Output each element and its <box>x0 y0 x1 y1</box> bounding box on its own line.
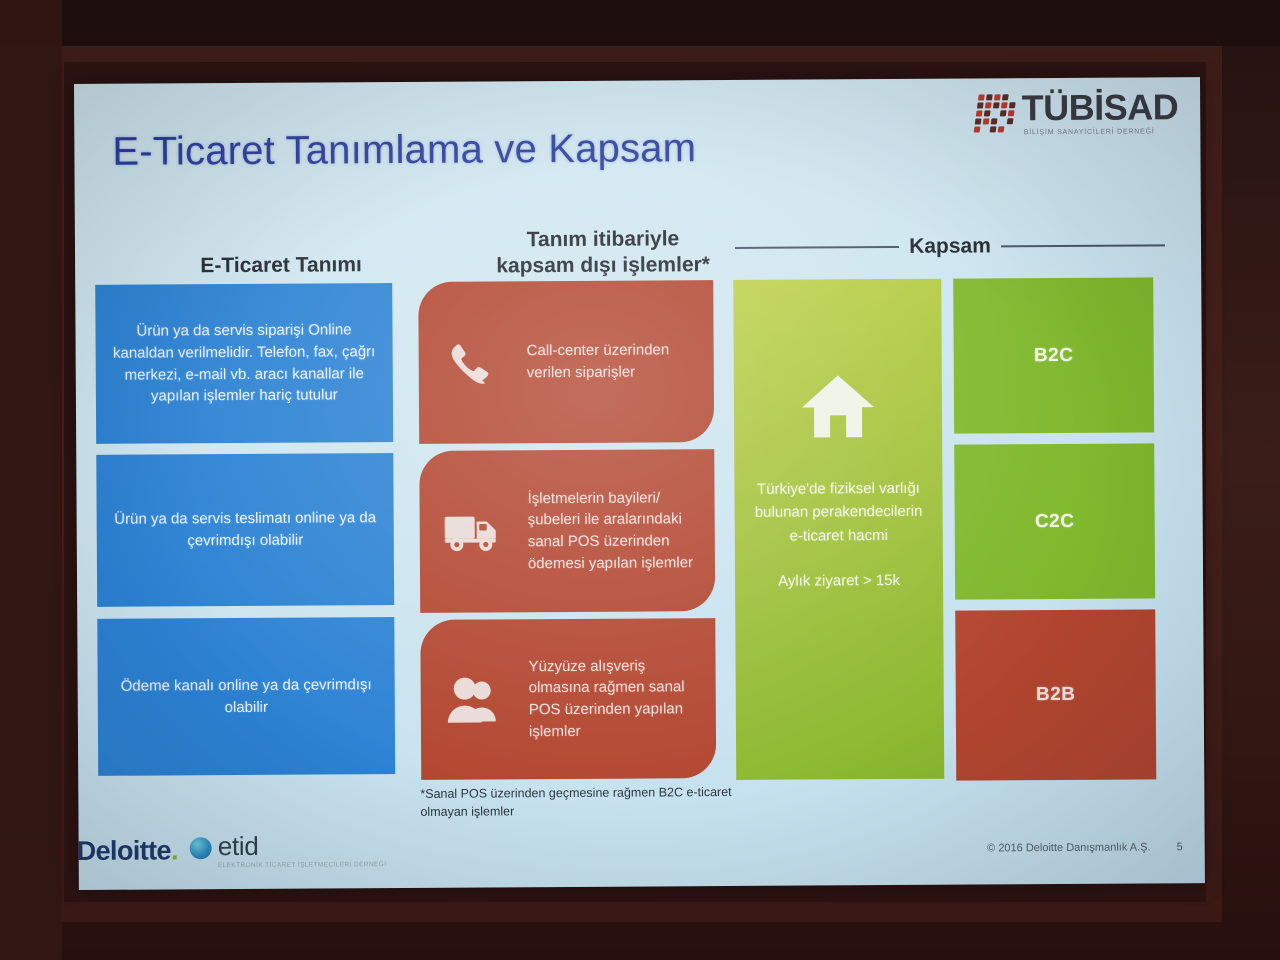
footnote: *Sanal POS üzerinden geçmesine rağmen B2… <box>420 783 760 821</box>
wall-top-band <box>0 0 1280 46</box>
scope-panel: Türkiye'de fiziksel varlığı bulunan pera… <box>733 279 944 780</box>
scope-square-c2c: C2C <box>954 443 1155 599</box>
scope-rule-left <box>735 246 899 249</box>
phone-icon <box>419 335 527 390</box>
column-header-exclusions: Tanım itibariyle kapsam dışı işlemler* <box>453 226 753 280</box>
copyright-text: © 2016 Deloitte Danışmanlık A.Ş. <box>987 841 1150 854</box>
column-header-scope: Kapsam <box>735 233 1165 260</box>
wall-left-band <box>0 0 62 960</box>
scope-rule-right <box>1001 244 1165 247</box>
exclusion-box-text: Yüzyüze alışveriş olmasına rağmen sanal … <box>529 655 717 743</box>
page-title: E-Ticaret Tanımlama ve Kapsam <box>112 126 696 175</box>
column-header-scope-label: Kapsam <box>909 234 991 258</box>
projection-room-background: TÜBİSAD BİLİŞİM SANAYİCİLERİ DERNEĞİ E-T… <box>0 0 1280 960</box>
tubisad-name: TÜBİSAD <box>1022 89 1179 126</box>
page-number: 5 <box>1177 841 1183 853</box>
presentation-slide: TÜBİSAD BİLİŞİM SANAYİCİLERİ DERNEĞİ E-T… <box>74 77 1205 890</box>
exclusion-box: İşletmelerin bayileri/şubeleri ile arala… <box>419 449 715 613</box>
tubisad-wordmark: TÜBİSAD BİLİŞİM SANAYİCİLERİ DERNEĞİ <box>1022 89 1179 136</box>
etid-logo: etid ELEKTRONİK TİCARET İŞLETMECİLERİ DE… <box>190 832 387 870</box>
deloitte-dot: . <box>171 836 178 866</box>
column-header-exclusions-line2: kapsam dışı işlemler* <box>453 252 753 280</box>
tubisad-logo: TÜBİSAD BİLİŞİM SANAYİCİLERİ DERNEĞİ <box>976 89 1179 136</box>
scope-square-b2c: B2C <box>953 277 1154 433</box>
etid-name: etid <box>218 832 387 859</box>
etid-wordmark: etid ELEKTRONİK TİCARET İŞLETMECİLERİ DE… <box>218 832 387 870</box>
definition-box: Ödeme kanalı online ya da çevrimdışı ola… <box>97 617 395 776</box>
tubisad-grid-icon <box>973 94 1016 132</box>
definition-box: Ürün ya da servis teslimatı online ya da… <box>96 453 394 607</box>
definition-box: Ürün ya da servis siparişi Online kanald… <box>95 283 393 444</box>
deloitte-wordmark: Deloitte <box>77 836 171 867</box>
etid-subtitle: ELEKTRONİK TİCARET İŞLETMECİLERİ DERNEĞİ <box>218 862 387 870</box>
exclusion-box-text: İşletmelerin bayileri/şubeleri ile arala… <box>527 487 715 575</box>
exclusion-box: Call-center üzerinden verilen siparişler <box>418 280 714 444</box>
exclusion-box-text: Call-center üzerinden verilen siparişler <box>527 339 714 384</box>
scope-panel-description: Türkiye'de fiziksel varlığı bulunan pera… <box>734 477 942 548</box>
column-header-definition: E-Ticaret Tanımı <box>131 253 431 279</box>
footer-meta: © 2016 Deloitte Danışmanlık A.Ş. 5 <box>987 841 1183 854</box>
tubisad-subtitle: BİLİŞİM SANAYİCİLERİ DERNEĞİ <box>1024 128 1179 136</box>
scope-panel-metric: Aylık ziyaret > 15k <box>735 568 943 593</box>
truck-icon <box>420 508 528 555</box>
deloitte-logo: Deloitte. <box>77 836 178 868</box>
exclusion-box: Yüzyüze alışveriş olmasına rağmen sanal … <box>420 618 716 780</box>
people-icon <box>421 674 529 725</box>
etid-circle-icon <box>190 837 212 859</box>
column-header-exclusions-line1: Tanım itibariyle <box>453 226 753 254</box>
footer-logos: Deloitte. etid ELEKTRONİK TİCARET İŞLETM… <box>77 832 387 870</box>
scope-square-b2b: B2B <box>955 609 1156 780</box>
house-icon <box>734 371 942 442</box>
